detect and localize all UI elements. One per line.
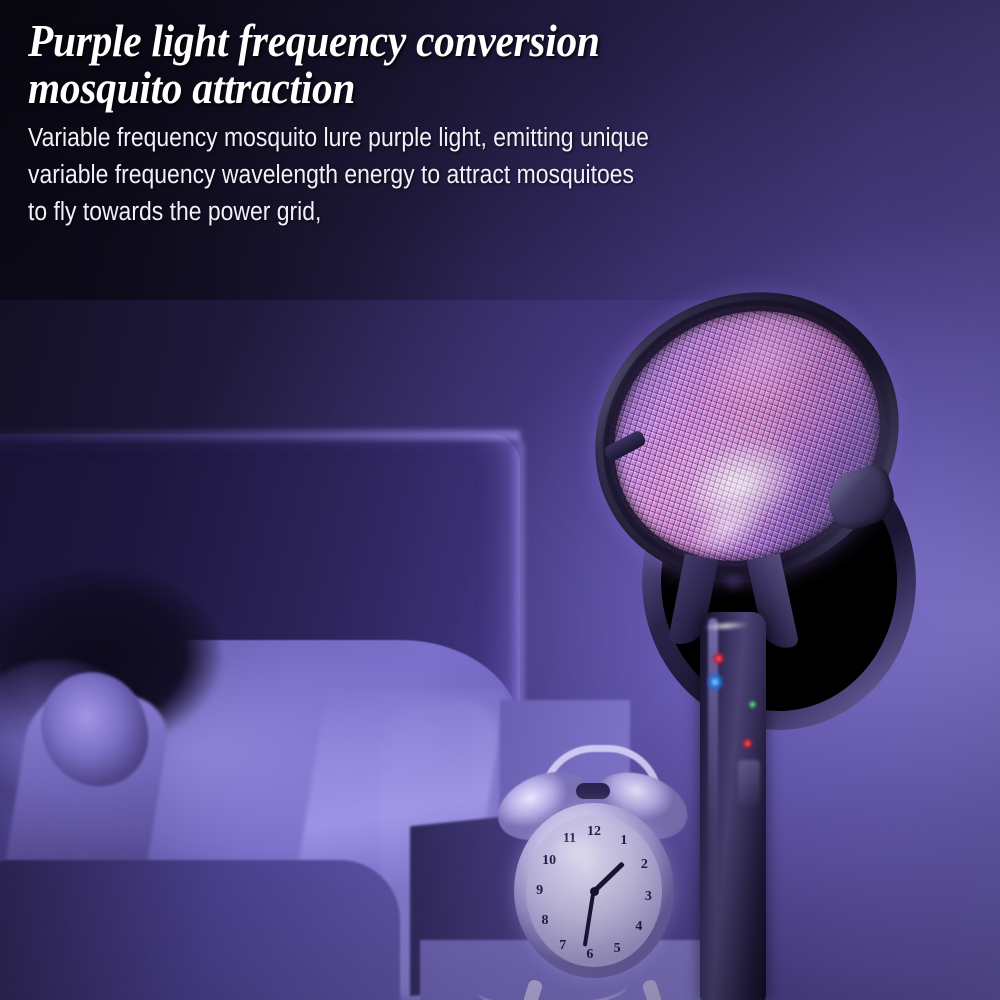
product-banner: 12 1 2 3 4 5 6 7 8 9 10 11 bbox=[0, 0, 1000, 1000]
subtitle-line-3: to fly towards the power grid, bbox=[28, 194, 820, 231]
page-subtitle: Variable frequency mosquito lure purple … bbox=[28, 120, 820, 232]
title-line-2: mosquito attraction bbox=[28, 65, 856, 112]
title-line-1: Purple light frequency conversion bbox=[28, 18, 856, 65]
page-title: Purple light frequency conversion mosqui… bbox=[28, 18, 856, 113]
subtitle-line-1: Variable frequency mosquito lure purple … bbox=[28, 120, 820, 157]
subtitle-line-2: variable frequency wavelength energy to … bbox=[28, 157, 820, 194]
